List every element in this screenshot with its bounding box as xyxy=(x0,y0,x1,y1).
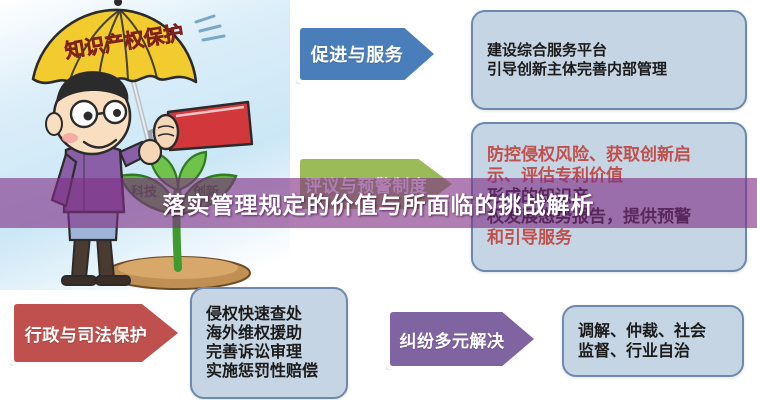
box-dispute-line-1: 调解、仲裁、社会 xyxy=(578,321,728,341)
box-administrative-judicial: 侵权快速查处 海外维权援助 完善诉讼审理 实施惩罚性赔偿 xyxy=(190,287,348,399)
box-promotion-line-1: 建设综合服务平台 xyxy=(487,41,731,60)
box-promotion-text: 建设综合服务平台 引导创新主体完善内部管理 xyxy=(473,41,745,79)
box-dispute-resolution: 调解、仲裁、社会 监督、行业自治 xyxy=(562,305,744,377)
box-review-line-1: 防控侵权风险、获取创新启 xyxy=(487,145,731,166)
box-dispute-text: 调解、仲裁、社会 监督、行业自治 xyxy=(564,321,742,361)
arrow-dispute-resolution-label: 纠纷多元解决 xyxy=(400,327,505,352)
cartoon-svg: 知识产权保护 科技 创新 xyxy=(0,0,290,290)
box-review-line-5: 和引导服务 xyxy=(487,228,731,249)
watering-arm-icon xyxy=(150,102,252,150)
box-promotion-line-2: 引导创新主体完善内部管理 xyxy=(487,60,731,79)
ip-protection-illustration: 知识产权保护 科技 创新 xyxy=(0,0,290,290)
box-admin-line-3: 完善诉讼审理 xyxy=(206,343,332,362)
title-banner-overlay: 落实管理规定的价值与所面临的挑战解析 xyxy=(0,178,757,228)
box-admin-line-4: 实施惩罚性赔偿 xyxy=(206,362,332,381)
box-administrative-text: 侵权快速查处 海外维权援助 完善诉讼审理 实施惩罚性赔偿 xyxy=(192,305,346,381)
box-dispute-line-2: 监督、行业自治 xyxy=(578,341,728,361)
diagram-canvas: 知识产权保护 科技 创新 xyxy=(0,0,757,400)
arrow-administrative-judicial-label: 行政与司法保护 xyxy=(25,321,148,346)
motion-lines-icon xyxy=(196,16,224,40)
arrow-promotion-label: 促进与服务 xyxy=(311,41,404,67)
box-admin-line-2: 海外维权援助 xyxy=(206,324,332,343)
box-admin-line-1: 侵权快速查处 xyxy=(206,305,332,324)
box-promotion: 建设综合服务平台 引导创新主体完善内部管理 xyxy=(471,10,747,110)
banner-title: 落实管理规定的价值与所面临的挑战解析 xyxy=(163,186,595,220)
